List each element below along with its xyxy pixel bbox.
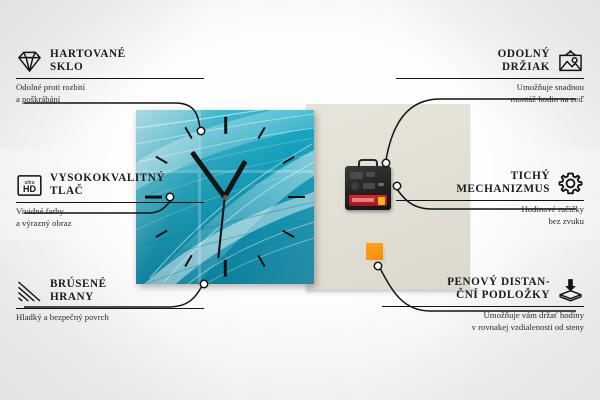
feature-foam-spacers: PENOVÝ DISTAN- ČNÍ PODLOŽKY Umožňuje vám…: [382, 276, 584, 333]
clock-tick: [288, 196, 305, 199]
clock-tick: [184, 255, 192, 267]
feature-divider: [16, 202, 204, 203]
infographic-canvas: HARTOVANÉ SKLO Odolné proti rozbití a po…: [0, 0, 600, 400]
feature-title: TICHÝ MECHANIZMUS: [456, 170, 550, 197]
picture-hanger-icon: [557, 49, 584, 74]
feature-ground-edges: BRÚSENÉ HRANY Hladký a bezpečný povrch: [16, 278, 204, 324]
feature-header: BRÚSENÉ HRANY: [16, 278, 204, 305]
battery-label: [352, 198, 374, 202]
feature-header: HARTOVANÉ SKLO: [16, 48, 204, 75]
feature-divider: [382, 306, 584, 307]
feature-description: Hodinové ručičky bez zvuku: [396, 204, 584, 226]
clock-tick: [155, 230, 167, 238]
clock-tick: [184, 127, 192, 139]
movement-detail: [366, 172, 375, 177]
battery: [349, 195, 387, 206]
clock-tick: [283, 156, 295, 164]
movement-shaft: [351, 182, 359, 190]
movement-hanger: [358, 159, 378, 170]
feature-header: PENOVÝ DISTAN- ČNÍ PODLOŽKY: [382, 276, 584, 303]
clock-center-cap: [223, 195, 228, 200]
foam-pad-press-icon: [557, 277, 584, 302]
clock-movement: [345, 166, 391, 210]
feature-divider: [16, 78, 204, 79]
feature-description: Vividné farby a výrazný obraz: [16, 206, 204, 228]
movement-detail: [350, 172, 363, 179]
clock-tick: [224, 260, 227, 277]
foam-spacer-pad: [366, 243, 383, 260]
feature-divider: [396, 78, 584, 79]
svg-text:HD: HD: [23, 184, 37, 194]
beveled-edge-icon: [16, 279, 43, 304]
feature-high-quality-print: ultra HD VYSOKOKVALITNÝ TLAČ Vividné far…: [16, 172, 204, 229]
feature-description: Umožňuje snadnou montáž hodin na zeď: [396, 82, 584, 104]
feature-description: Odolné proti rozbití a poškrábání: [16, 82, 204, 104]
clock-tick: [258, 127, 266, 139]
clock-tick: [258, 255, 266, 267]
clock-tick: [283, 230, 295, 238]
feature-header: ultra HD VYSOKOKVALITNÝ TLAČ: [16, 172, 204, 199]
diamond-icon: [16, 49, 43, 74]
feature-header: TICHÝ MECHANIZMUS: [396, 170, 584, 197]
feature-durable-holder: ODOLNÝ DRŽIAK Umožňuje snadnou montáž ho…: [396, 48, 584, 105]
clock-tick: [224, 117, 227, 134]
feature-silent-mechanism: TICHÝ MECHANIZMUS Hodinové ručičky bez z…: [396, 170, 584, 227]
feature-description: Hladký a bezpečný povrch: [16, 312, 204, 323]
feature-title: VYSOKOKVALITNÝ TLAČ: [50, 172, 165, 199]
battery-positive-terminal: [378, 197, 385, 205]
ultra-hd-badge-icon: ultra HD: [16, 173, 43, 198]
movement-detail: [378, 183, 384, 186]
feature-title: BRÚSENÉ HRANY: [50, 278, 107, 305]
clock-tick: [155, 156, 167, 164]
gear-icon: [557, 171, 584, 196]
feature-title: HARTOVANÉ SKLO: [50, 48, 126, 75]
feature-title: ODOLNÝ DRŽIAK: [498, 48, 550, 75]
feature-header: ODOLNÝ DRŽIAK: [396, 48, 584, 75]
feature-description: Umožňuje vám držať hodiny v rovnakej vzd…: [382, 310, 584, 332]
feature-divider: [396, 200, 584, 201]
feature-title: PENOVÝ DISTAN- ČNÍ PODLOŽKY: [447, 276, 550, 303]
feature-divider: [16, 308, 204, 309]
movement-detail: [363, 183, 375, 189]
feature-tempered-glass: HARTOVANÉ SKLO Odolné proti rozbití a po…: [16, 48, 204, 105]
